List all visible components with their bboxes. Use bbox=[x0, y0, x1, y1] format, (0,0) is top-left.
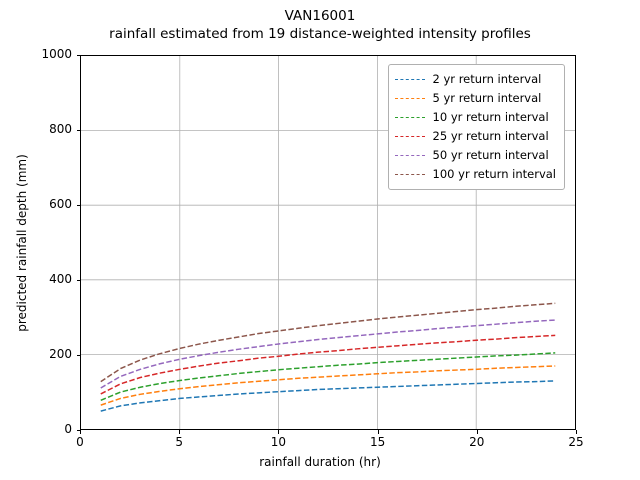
legend-label: 100 yr return interval bbox=[433, 165, 556, 184]
series-line-0 bbox=[101, 381, 555, 411]
plot-area: 2 yr return interval 5 yr return interva… bbox=[80, 55, 576, 430]
x-tickmark bbox=[278, 430, 279, 434]
y-tick-label: 800 bbox=[12, 122, 72, 136]
legend-label: 2 yr return interval bbox=[433, 70, 542, 89]
legend-item: 25 yr return interval bbox=[395, 127, 556, 146]
x-tick-label: 10 bbox=[258, 435, 298, 449]
y-axis-label-text: predicted rainfall depth (mm) bbox=[15, 154, 29, 332]
legend-line-swatch bbox=[395, 79, 425, 81]
legend-label: 25 yr return interval bbox=[433, 127, 549, 146]
x-tickmark bbox=[477, 430, 478, 434]
legend-item: 100 yr return interval bbox=[395, 165, 556, 184]
x-tick-label: 0 bbox=[60, 435, 100, 449]
x-tickmark bbox=[576, 430, 577, 434]
x-tickmark bbox=[378, 430, 379, 434]
legend-item: 2 yr return interval bbox=[395, 70, 556, 89]
page-title: VAN16001 bbox=[0, 8, 640, 25]
x-axis-label: rainfall duration (hr) bbox=[0, 455, 640, 469]
legend-label: 5 yr return interval bbox=[433, 89, 542, 108]
chart-title-block: VAN16001 rainfall estimated from 19 dist… bbox=[0, 8, 640, 43]
x-tick-label: 15 bbox=[358, 435, 398, 449]
x-tickmark bbox=[179, 430, 180, 434]
series-line-3 bbox=[101, 335, 555, 394]
legend-line-swatch bbox=[395, 174, 425, 176]
x-tick-label: 25 bbox=[556, 435, 596, 449]
legend-label: 10 yr return interval bbox=[433, 108, 549, 127]
legend-item: 50 yr return interval bbox=[395, 146, 556, 165]
legend-line-swatch bbox=[395, 155, 425, 157]
y-tick-label: 200 bbox=[12, 347, 72, 361]
chart-figure: VAN16001 rainfall estimated from 19 dist… bbox=[0, 0, 640, 480]
chart-subtitle: rainfall estimated from 19 distance-weig… bbox=[0, 25, 640, 43]
x-tick-label: 5 bbox=[159, 435, 199, 449]
legend-item: 10 yr return interval bbox=[395, 108, 556, 127]
y-tick-label: 0 bbox=[12, 422, 72, 436]
y-tick-label: 600 bbox=[12, 197, 72, 211]
legend-item: 5 yr return interval bbox=[395, 89, 556, 108]
series-line-5 bbox=[101, 303, 555, 381]
chart-legend: 2 yr return interval 5 yr return interva… bbox=[388, 64, 565, 190]
x-tickmark bbox=[80, 430, 81, 434]
series-line-4 bbox=[101, 320, 555, 388]
legend-line-swatch bbox=[395, 98, 425, 100]
y-tick-label: 1000 bbox=[12, 47, 72, 61]
legend-line-swatch bbox=[395, 117, 425, 119]
x-tick-label: 20 bbox=[457, 435, 497, 449]
legend-line-swatch bbox=[395, 136, 425, 138]
y-tick-label: 400 bbox=[12, 272, 72, 286]
legend-label: 50 yr return interval bbox=[433, 146, 549, 165]
